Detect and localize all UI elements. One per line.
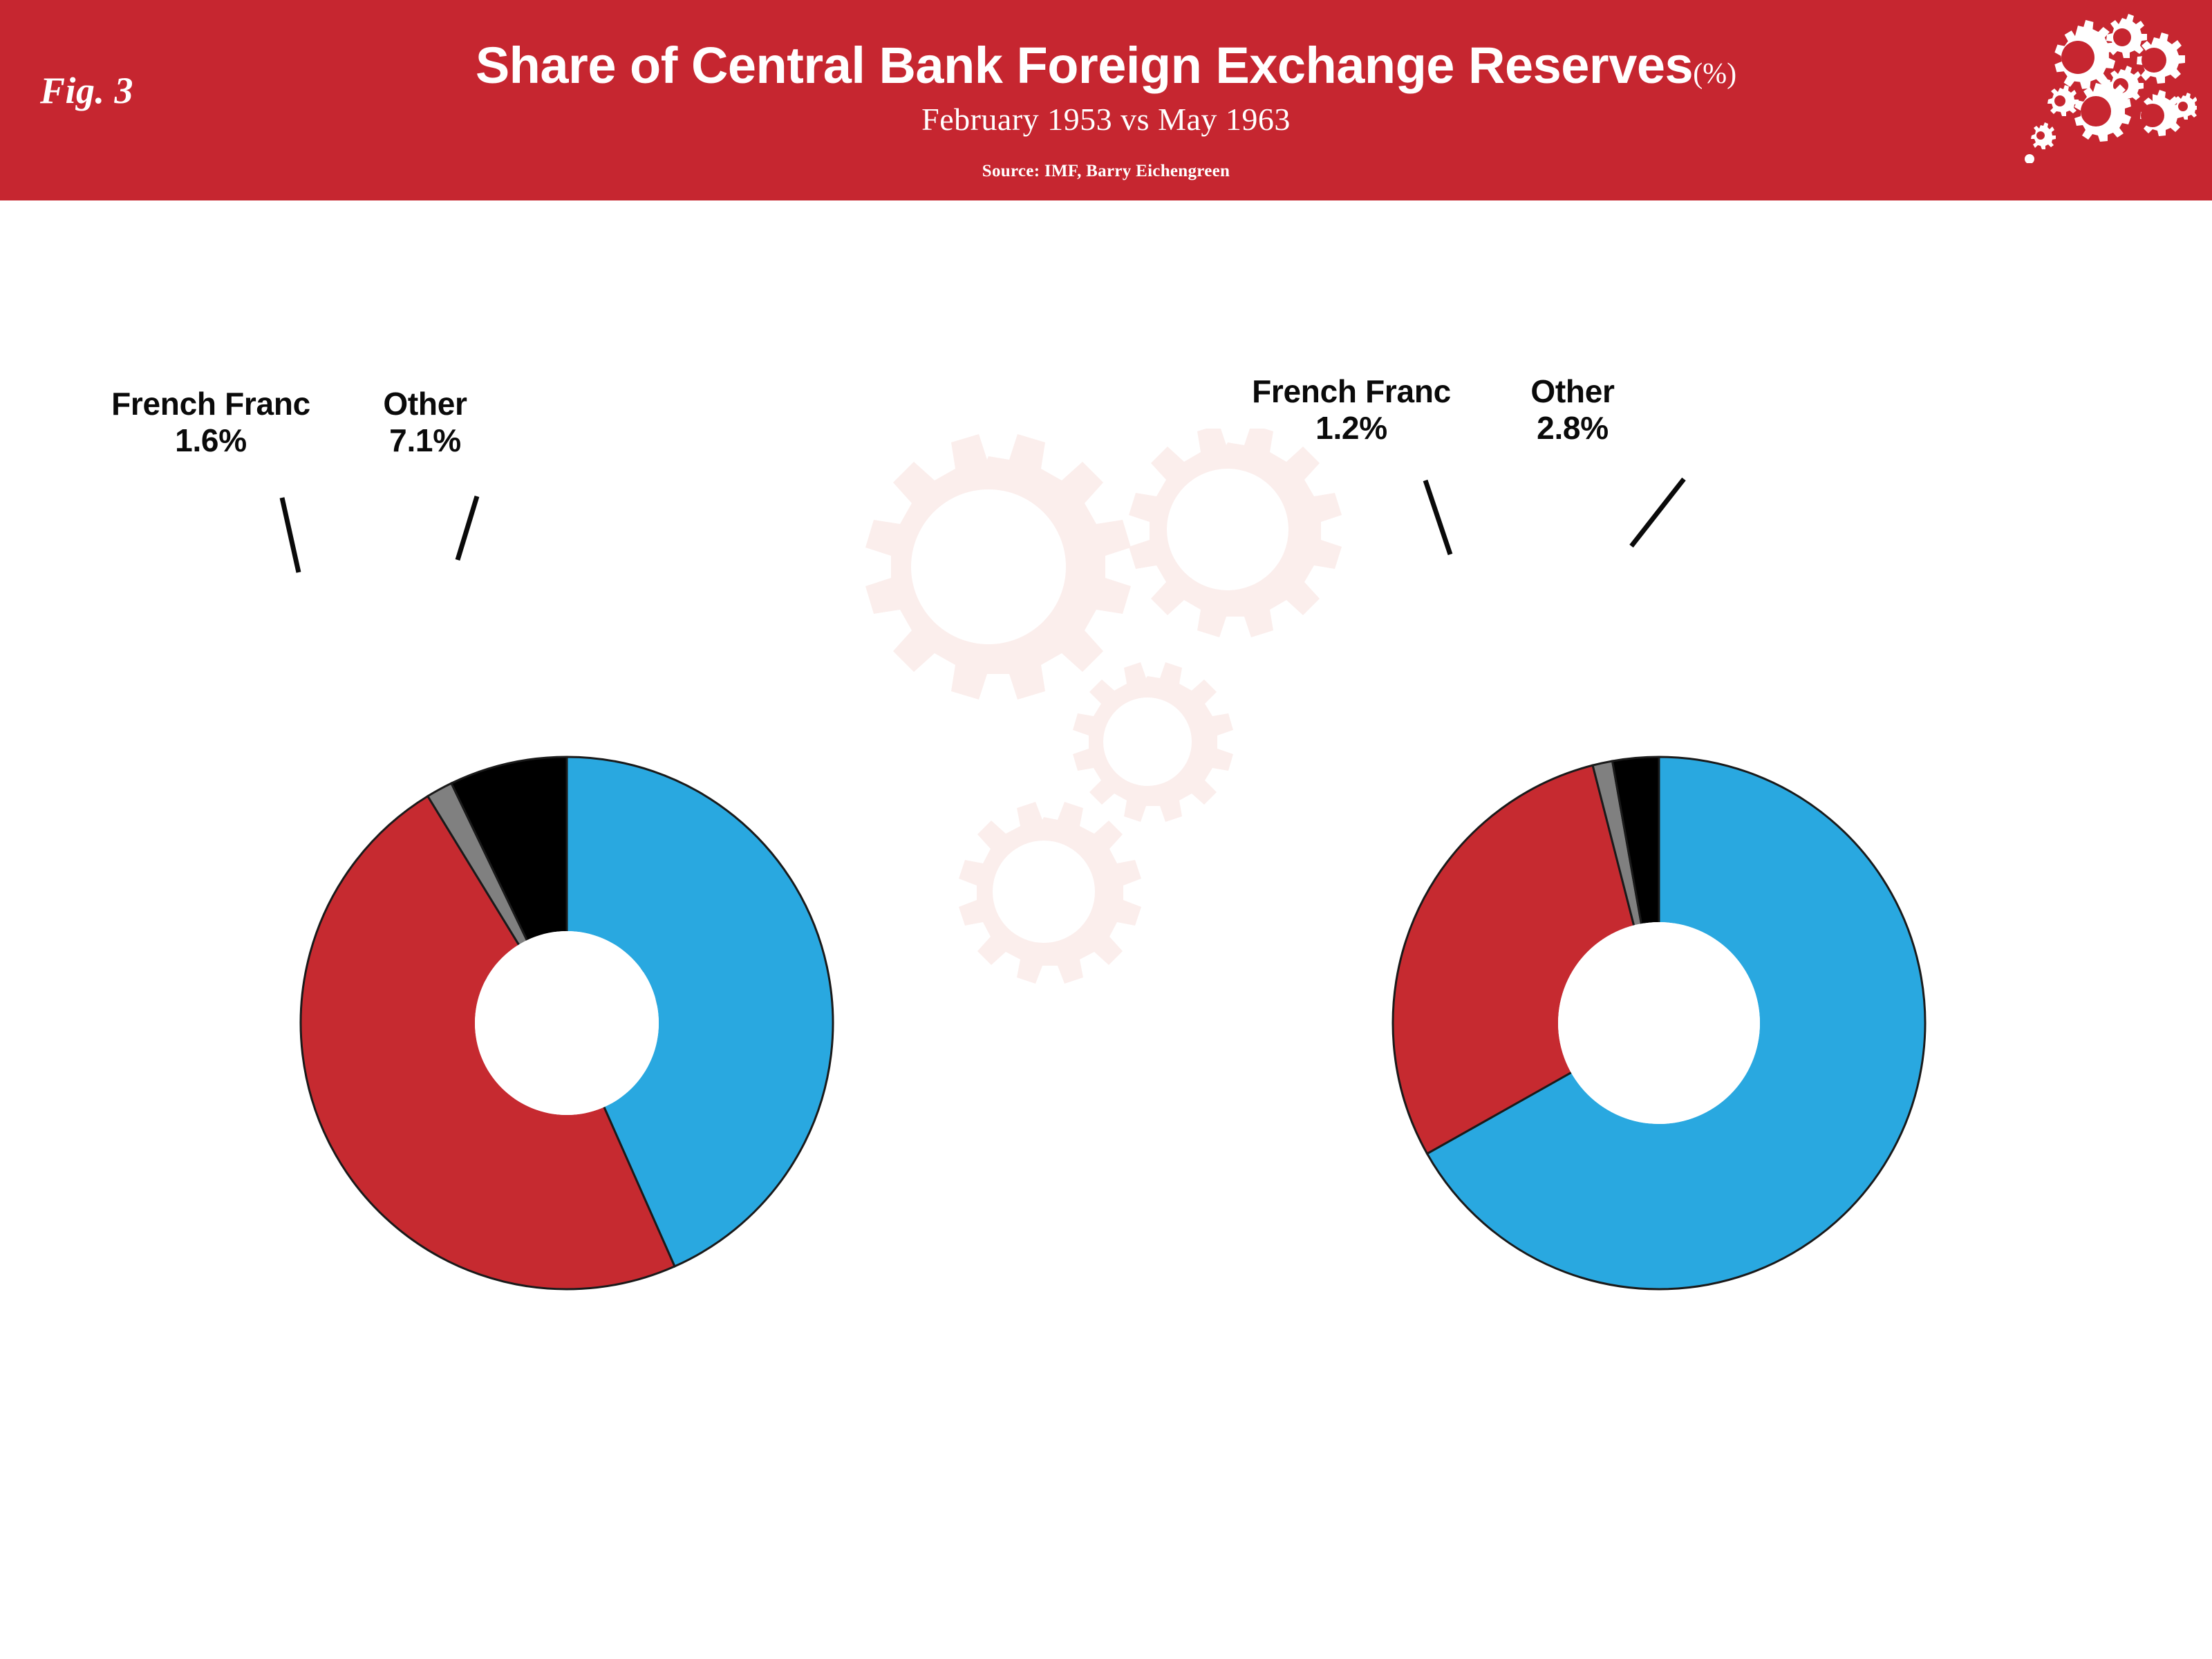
page-title-unit: (%) — [1693, 58, 1736, 90]
source-credit: Source: IMF, Barry Eichengreen — [0, 162, 2212, 181]
header-bar: Fig. 3 Share of Central Bank Foreign Exc… — [0, 0, 2212, 200]
donut-1953-hole — [475, 931, 659, 1115]
page-title: Share of Central Bank Foreign Exchange R… — [0, 40, 2212, 91]
leader-line-1953-french-franc — [282, 498, 299, 572]
leader-line-1963-other — [1631, 479, 1684, 546]
slide-canvas: Fig. 3 Share of Central Bank Foreign Exc… — [0, 0, 2212, 1659]
page-subtitle: February 1953 vs May 1963 — [0, 104, 2212, 135]
page-title-text: Share of Central Bank Foreign Exchange R… — [476, 37, 1693, 94]
title-block: Share of Central Bank Foreign Exchange R… — [0, 0, 2212, 181]
donut-1963-hole — [1558, 922, 1760, 1124]
leader-line-1953-other — [458, 496, 477, 560]
leader-line-1963-french-franc — [1425, 480, 1450, 554]
charts-container: February 1953 US Dollar 43.1% Pound Ster… — [0, 200, 2212, 1659]
donut-charts-precise — [0, 200, 2212, 1659]
gears-icon — [2024, 4, 2197, 163]
